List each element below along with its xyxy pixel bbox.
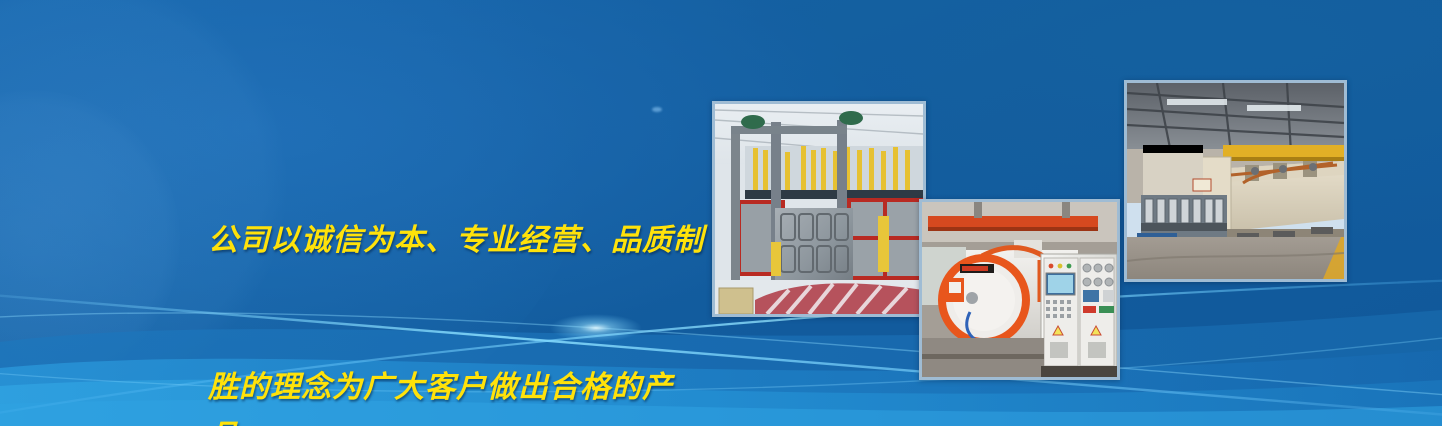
product-photo-vacuum-furnace bbox=[919, 199, 1120, 380]
slogan-text: 公司以诚信为本、专业经营、品质制 胜的理念为广大客户做出合格的产品。 主要产品：… bbox=[208, 118, 728, 426]
background-speck bbox=[652, 107, 662, 112]
slogan-line-1: 公司以诚信为本、专业经营、品质制 bbox=[208, 216, 728, 265]
slogan-line-2: 胜的理念为广大客户做出合格的产品。 bbox=[208, 363, 728, 426]
photo-1-image bbox=[715, 104, 923, 314]
product-photo-continuous-furnace-line bbox=[1124, 80, 1347, 282]
company-promo-banner: 公司以诚信为本、专业经营、品质制 胜的理念为广大客户做出合格的产品。 主要产品：… bbox=[0, 0, 1442, 426]
photo-3-image bbox=[1127, 83, 1344, 279]
photo-2-image bbox=[922, 202, 1117, 377]
product-photo-pit-furnace bbox=[712, 101, 926, 317]
